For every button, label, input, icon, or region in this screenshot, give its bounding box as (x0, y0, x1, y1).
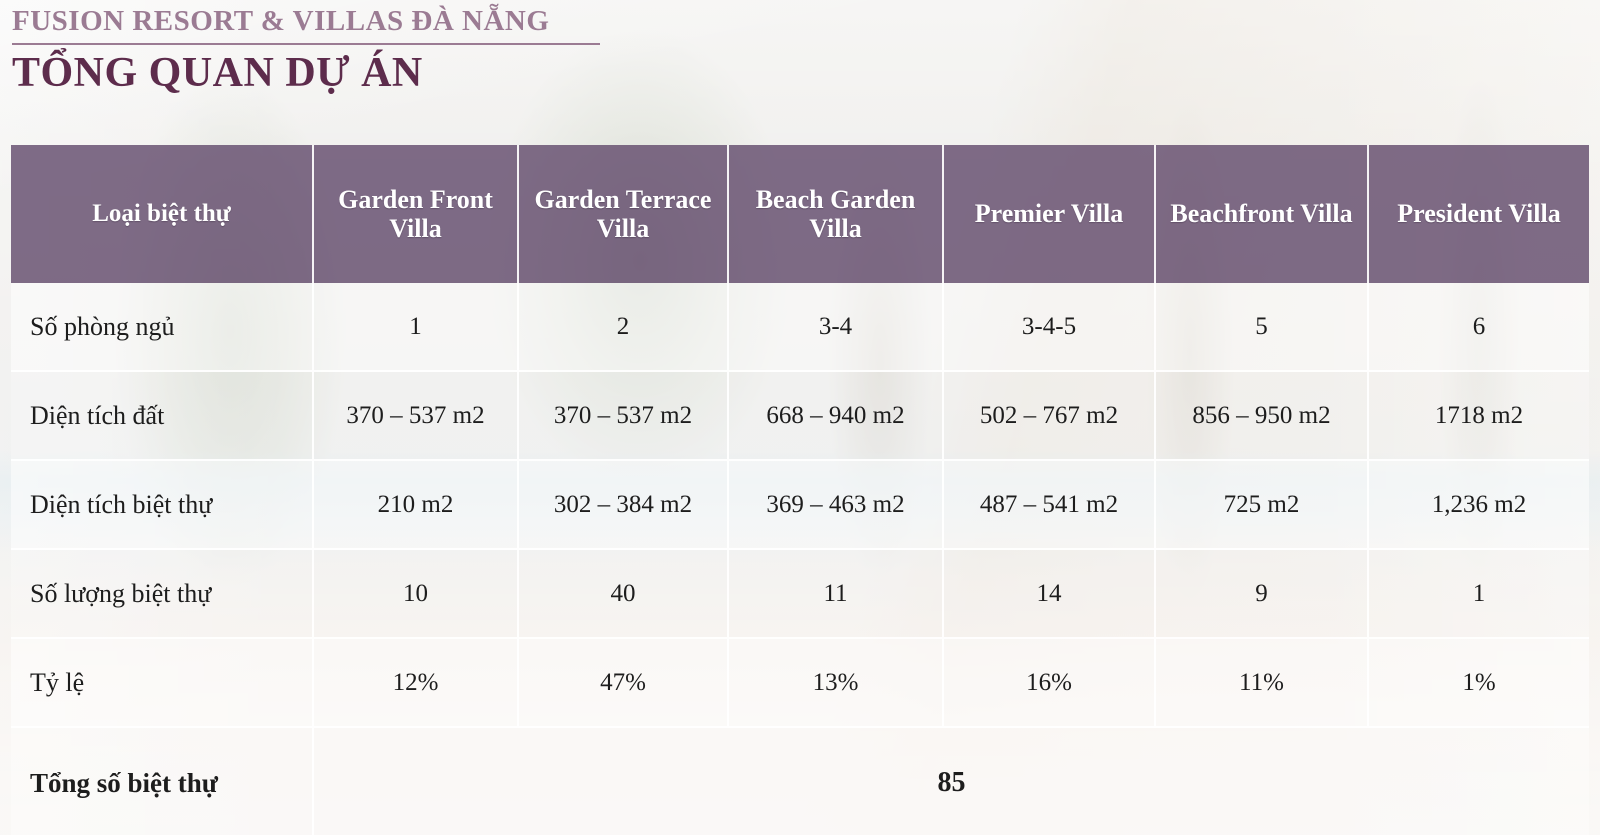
column-header-beach-garden-villa: Beach Garden Villa (729, 145, 944, 283)
cell-bedrooms-premier: 3-4-5 (944, 283, 1156, 372)
cell-villa-count-garden-front: 10 (314, 550, 519, 639)
cell-villa-area-president: 1,236 m2 (1369, 461, 1589, 550)
cell-land-area-beachfront: 856 – 950 m2 (1156, 372, 1369, 461)
cell-bedrooms-garden-terrace: 2 (519, 283, 729, 372)
row-label-villa-area: Diện tích biệt thự (11, 461, 314, 550)
row-label-bedrooms: Số phòng ngủ (11, 283, 314, 372)
cell-villa-count-beachfront: 9 (1156, 550, 1369, 639)
cell-bedrooms-beach-garden: 3-4 (729, 283, 944, 372)
slide-heading-block: FUSION RESORT & VILLAS ĐÀ NẴNG TỔNG QUAN… (12, 6, 772, 97)
cell-villa-count-garden-terrace: 40 (519, 550, 729, 639)
table-row: Số lượng biệt thự 10 40 11 14 9 1 (11, 550, 1589, 639)
cell-land-area-garden-front: 370 – 537 m2 (314, 372, 519, 461)
cell-ratio-garden-terrace: 47% (519, 639, 729, 728)
table-body: Số phòng ngủ 1 2 3-4 3-4-5 5 6 Diện tích… (11, 283, 1589, 835)
cell-ratio-garden-front: 12% (314, 639, 519, 728)
column-header-premier-villa: Premier Villa (944, 145, 1156, 283)
table-row: Số phòng ngủ 1 2 3-4 3-4-5 5 6 (11, 283, 1589, 372)
cell-villa-area-garden-terrace: 302 – 384 m2 (519, 461, 729, 550)
cell-bedrooms-garden-front: 1 (314, 283, 519, 372)
cell-total-villas-value: 85 (314, 728, 1589, 835)
table-total-row: Tổng số biệt thự 85 (11, 728, 1589, 835)
cell-villa-area-beachfront: 725 m2 (1156, 461, 1369, 550)
table-row: Diện tích biệt thự 210 m2 302 – 384 m2 3… (11, 461, 1589, 550)
heading-divider (12, 43, 600, 45)
villa-overview-table: Loại biệt thự Garden Front Villa Garden … (11, 145, 1589, 835)
cell-villa-count-premier: 14 (944, 550, 1156, 639)
row-label-total-villas: Tổng số biệt thự (11, 728, 314, 835)
table-row: Tỷ lệ 12% 47% 13% 16% 11% 1% (11, 639, 1589, 728)
cell-ratio-premier: 16% (944, 639, 1156, 728)
table-row: Diện tích đất 370 – 537 m2 370 – 537 m2 … (11, 372, 1589, 461)
cell-bedrooms-president: 6 (1369, 283, 1589, 372)
slide-root: FUSION RESORT & VILLAS ĐÀ NẴNG TỔNG QUAN… (0, 0, 1600, 835)
cell-land-area-president: 1718 m2 (1369, 372, 1589, 461)
cell-ratio-beachfront: 11% (1156, 639, 1369, 728)
cell-land-area-garden-terrace: 370 – 537 m2 (519, 372, 729, 461)
row-label-villa-count: Số lượng biệt thự (11, 550, 314, 639)
column-header-president-villa: President Villa (1369, 145, 1589, 283)
column-header-garden-terrace-villa: Garden Terrace Villa (519, 145, 729, 283)
cell-villa-area-beach-garden: 369 – 463 m2 (729, 461, 944, 550)
row-label-land-area: Diện tích đất (11, 372, 314, 461)
cell-land-area-premier: 502 – 767 m2 (944, 372, 1156, 461)
cell-villa-count-president: 1 (1369, 550, 1589, 639)
project-subtitle: FUSION RESORT & VILLAS ĐÀ NẴNG (12, 6, 772, 37)
page-title: TỔNG QUAN DỰ ÁN (12, 50, 772, 97)
cell-villa-count-beach-garden: 11 (729, 550, 944, 639)
row-label-ratio: Tỷ lệ (11, 639, 314, 728)
cell-bedrooms-beachfront: 5 (1156, 283, 1369, 372)
table-header: Loại biệt thự Garden Front Villa Garden … (11, 145, 1589, 283)
cell-land-area-beach-garden: 668 – 940 m2 (729, 372, 944, 461)
cell-villa-area-premier: 487 – 541 m2 (944, 461, 1156, 550)
cell-ratio-president: 1% (1369, 639, 1589, 728)
cell-villa-area-garden-front: 210 m2 (314, 461, 519, 550)
table-header-row: Loại biệt thự Garden Front Villa Garden … (11, 145, 1589, 283)
column-header-garden-front-villa: Garden Front Villa (314, 145, 519, 283)
cell-ratio-beach-garden: 13% (729, 639, 944, 728)
column-header-villa-type: Loại biệt thự (11, 145, 314, 283)
column-header-beachfront-villa: Beachfront Villa (1156, 145, 1369, 283)
